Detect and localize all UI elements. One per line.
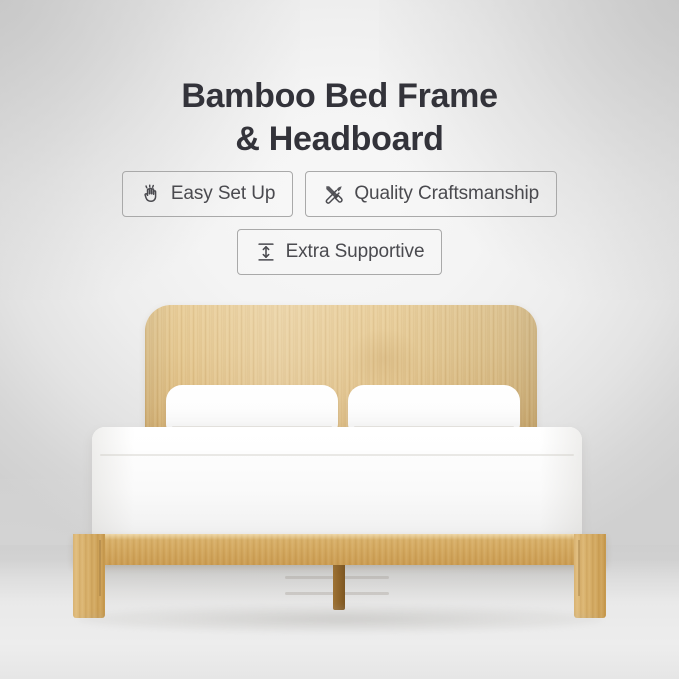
raised-hand-icon — [140, 183, 162, 205]
feature-badge-extra-supportive[interactable]: Extra Supportive — [237, 229, 443, 275]
feature-badge-label: Easy Set Up — [171, 183, 276, 205]
feature-badge-easy-set-up[interactable]: Easy Set Up — [122, 171, 294, 217]
feature-badge-row-1: Easy Set Up Quality Craftsmanship — [0, 171, 679, 217]
crossed-tools-icon — [323, 183, 345, 205]
vertical-height-arrow-icon — [255, 241, 277, 263]
feature-badge-row-2: Extra Supportive — [0, 229, 679, 275]
feature-badge-quality-craftsmanship[interactable]: Quality Craftsmanship — [305, 171, 557, 217]
page-title: Bamboo Bed Frame & Headboard — [0, 75, 679, 161]
page-title-line-2: & Headboard — [0, 118, 679, 161]
feature-badge-label: Quality Craftsmanship — [354, 183, 539, 205]
product-image-card: Bamboo Bed Frame & Headboard Easy Set Up — [0, 0, 679, 679]
feature-badge-label: Extra Supportive — [286, 241, 425, 263]
floor-surface — [0, 560, 679, 679]
page-title-line-1: Bamboo Bed Frame — [181, 77, 497, 115]
